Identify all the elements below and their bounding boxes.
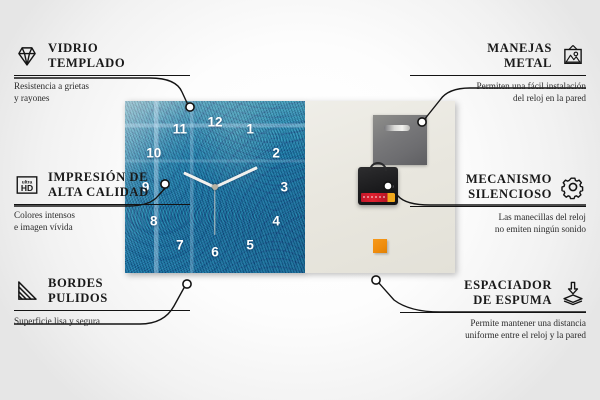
aa-battery <box>361 193 395 202</box>
svg-text:HD: HD <box>21 183 33 193</box>
callout-desc-line1: Permiten una fácil instalación <box>410 80 586 92</box>
callout-title-line1: IMPRESIÓN DE <box>48 170 149 185</box>
callout-desc-line1: Colores intensos <box>14 209 190 221</box>
callout-desc-line1: Las manecillas del reloj <box>410 211 586 223</box>
clock-numeral-11: 11 <box>173 123 187 137</box>
callout-head: MANEJAS METAL <box>410 41 586 72</box>
callout-title-line2: TEMPLADO <box>48 56 125 71</box>
callout-title: IMPRESIÓN DE ALTA CALIDAD <box>48 170 149 201</box>
callout-title: ESPACIADOR DE ESPUMA <box>464 278 552 309</box>
callout-title-line1: VIDRIO <box>48 41 125 56</box>
callout-divider <box>410 75 586 76</box>
callout-title-line2: DE ESPUMA <box>464 293 552 308</box>
foam-spacer-icon <box>560 280 586 306</box>
clock-numeral-10: 10 <box>146 146 161 160</box>
callout-desc-line2: no emiten ningún sonido <box>410 223 586 235</box>
callout-desc-line2: del reloj en la pared <box>410 92 586 104</box>
callout-description: Colores intensos e imagen vívida <box>14 209 190 234</box>
callout-desc-line1: Superficie lisa y segura <box>14 315 190 327</box>
callout-description: Las manecillas del reloj no emiten ningú… <box>410 211 586 236</box>
callout-mecanismo-silencioso[interactable]: MECANISMO SILENCIOSO Las manecillas del … <box>410 172 586 236</box>
polished-edge-icon <box>14 278 40 304</box>
callout-desc-line2: e imagen vívida <box>14 221 190 233</box>
callout-desc-line1: Permite mantener una distancia <box>400 317 586 329</box>
clock-numeral-1: 1 <box>246 123 254 137</box>
callout-divider <box>400 312 586 313</box>
leader-dot-espaciador <box>372 276 380 284</box>
clock-numeral-7: 7 <box>176 238 184 252</box>
metal-hanger-plate <box>373 115 427 165</box>
callout-desc-line2: uniforme entre el reloj y la pared <box>400 329 586 341</box>
callout-description: Permite mantener una distancia uniforme … <box>400 317 586 342</box>
callout-title-line1: ESPACIADOR <box>464 278 552 293</box>
callout-title-line1: MANEJAS <box>487 41 552 56</box>
clock-numeral-6: 6 <box>211 246 219 260</box>
mechanism-screw <box>391 185 394 188</box>
callout-title-line2: METAL <box>487 56 552 71</box>
callout-title-line1: MECANISMO <box>466 172 552 187</box>
hanger-keyhole-slot <box>384 125 410 131</box>
callout-head: ESPACIADOR DE ESPUMA <box>400 278 586 309</box>
callout-description: Resistencia a grietas y rayones <box>14 80 190 105</box>
callout-head: VIDRIO TEMPLADO <box>14 41 190 72</box>
clock-numeral-2: 2 <box>272 146 280 160</box>
clock-mechanism-box <box>358 167 398 205</box>
callout-manejas-metal[interactable]: MANEJAS METAL Permiten una fácil instala… <box>410 41 586 105</box>
callout-vidrio-templado[interactable]: VIDRIO TEMPLADO Resistencia a grietas y … <box>14 41 190 105</box>
callout-title-line2: ALTA CALIDAD <box>48 185 149 200</box>
callout-title: VIDRIO TEMPLADO <box>48 41 125 72</box>
callout-desc-line2: y rayones <box>14 92 190 104</box>
callout-espaciador-espuma[interactable]: ESPACIADOR DE ESPUMA Permite mantener un… <box>400 278 586 342</box>
callout-divider <box>14 310 190 311</box>
clock-numeral-3: 3 <box>281 180 289 194</box>
callout-impresion-alta-calidad[interactable]: ultra HD IMPRESIÓN DE ALTA CALIDAD Color… <box>14 170 190 234</box>
callout-title: BORDES PULIDOS <box>48 276 108 307</box>
callout-title: MECANISMO SILENCIOSO <box>466 172 552 203</box>
callout-title-line1: BORDES <box>48 276 108 291</box>
callout-description: Permiten una fácil instalación del reloj… <box>410 80 586 105</box>
infographic-canvas: 12 1 2 3 4 5 6 7 8 9 10 11 <box>0 0 600 400</box>
gear-icon <box>560 174 586 200</box>
clock-numeral-5: 5 <box>246 238 254 252</box>
callout-head: ultra HD IMPRESIÓN DE ALTA CALIDAD <box>14 170 190 201</box>
clock-numeral-12: 12 <box>207 115 222 129</box>
callout-head: MECANISMO SILENCIOSO <box>410 172 586 203</box>
diamond-icon <box>14 43 40 69</box>
callout-title: MANEJAS METAL <box>487 41 552 72</box>
clock-center-hub <box>212 184 218 190</box>
callout-bordes-pulidos[interactable]: BORDES PULIDOS Superficie lisa y segura <box>14 276 190 327</box>
clock-numeral-4: 4 <box>272 215 280 229</box>
callout-title-line2: SILENCIOSO <box>466 187 552 202</box>
hanging-picture-icon <box>560 43 586 69</box>
ultra-hd-icon: ultra HD <box>14 172 40 198</box>
callout-divider <box>14 204 190 205</box>
callout-title-line2: PULIDOS <box>48 291 108 306</box>
callout-desc-line1: Resistencia a grietas <box>14 80 190 92</box>
callout-divider <box>410 206 586 207</box>
foam-spacer-pad <box>373 239 387 253</box>
callout-head: BORDES PULIDOS <box>14 276 190 307</box>
callout-divider <box>14 75 190 76</box>
callout-description: Superficie lisa y segura <box>14 315 190 327</box>
